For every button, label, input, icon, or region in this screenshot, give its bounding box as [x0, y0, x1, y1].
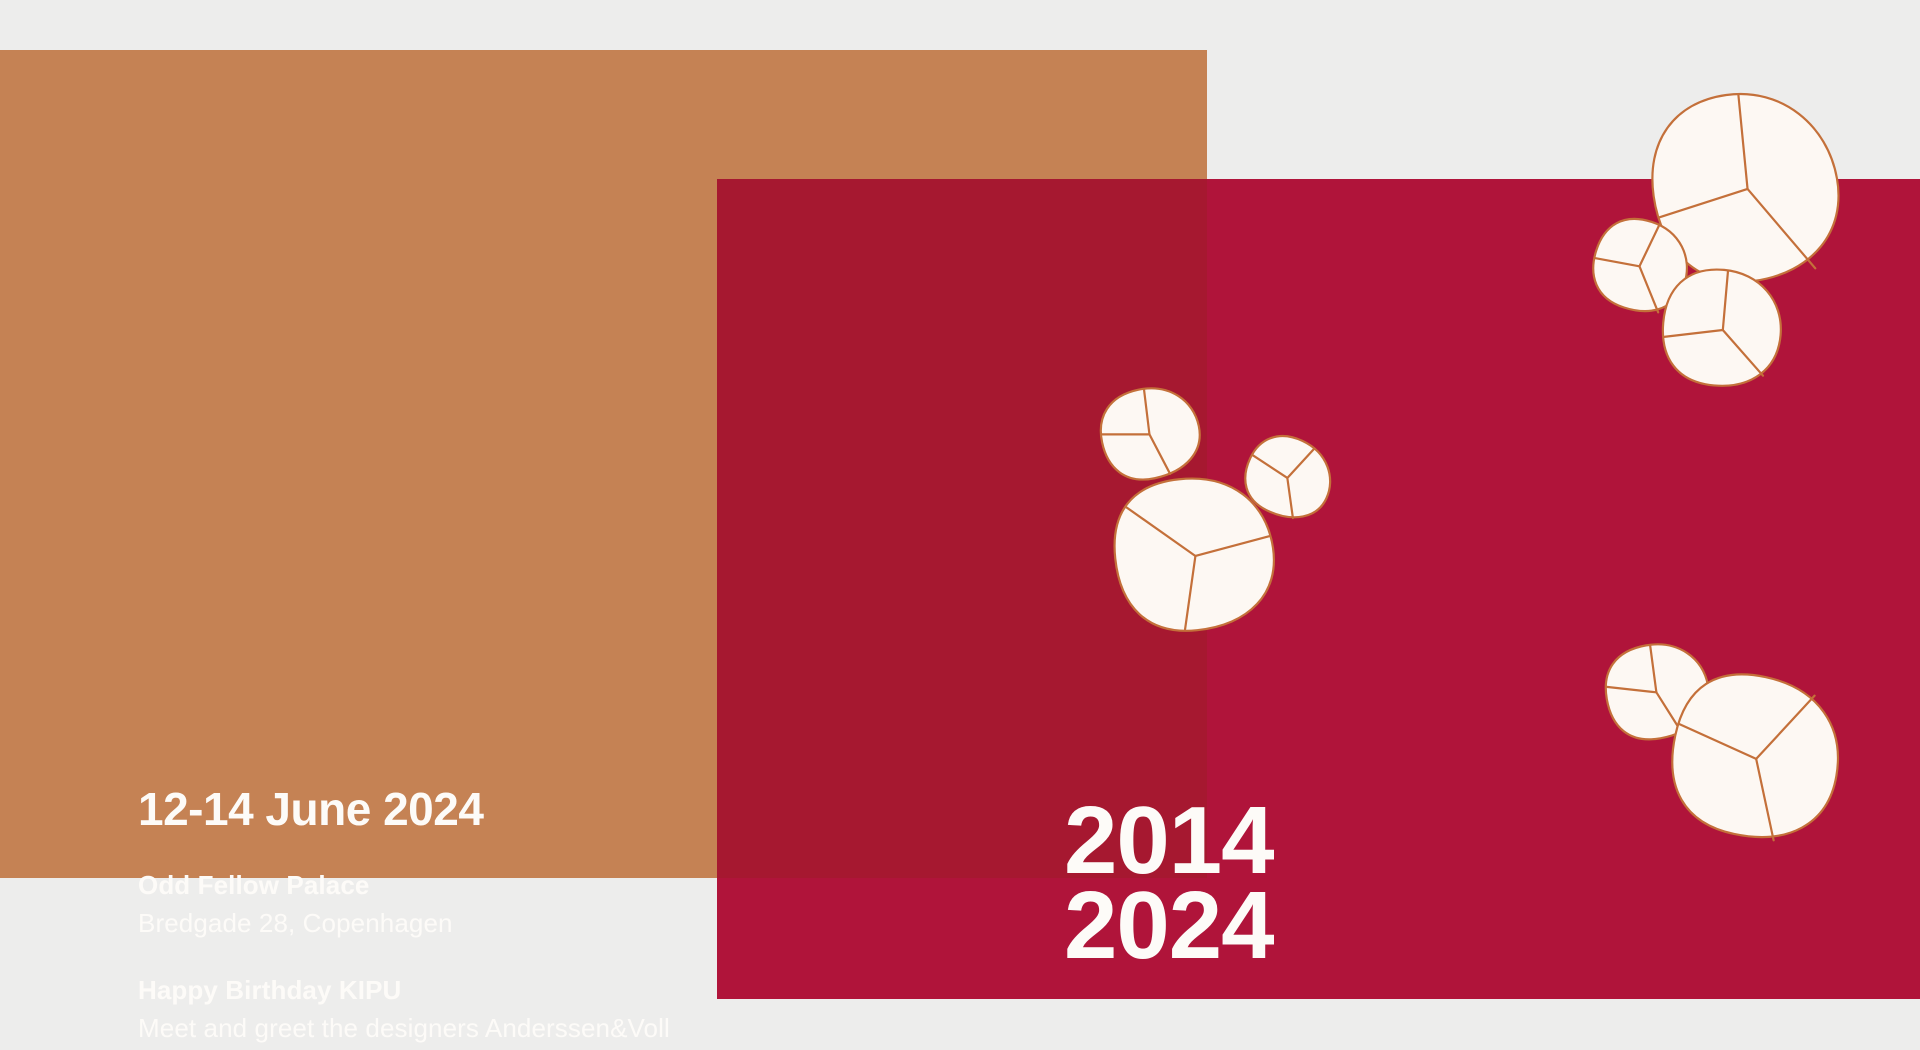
poster-text-column: 3 days of Design 12-14 June 2024 Odd Fel… [138, 96, 1038, 1050]
page-title: 3 days of Design [134, 96, 1038, 730]
sub-event-description-line-1: Meet and greet the designers Anderssen&V… [138, 1013, 1038, 1044]
anniversary-from-year: 2014 [1064, 798, 1274, 883]
event-dates: 12-14 June 2024 [138, 782, 1038, 836]
anniversary-to-year: 2024 [1064, 883, 1274, 968]
venue-block: Odd Fellow Palace Bredgade 28, Copenhage… [138, 870, 1038, 939]
sub-event-title: Happy Birthday KIPU [138, 975, 1038, 1006]
sub-event-block: Happy Birthday KIPU Meet and greet the d… [138, 975, 1038, 1050]
headline-line-2: of Design [134, 476, 1038, 603]
anniversary-years: 2014 2024 [1064, 798, 1274, 969]
headline-line-1: 3 days [134, 223, 1038, 350]
venue-name: Odd Fellow Palace [138, 870, 1038, 901]
venue-address: Bredgade 28, Copenhagen [138, 908, 1038, 939]
poster-canvas: 3 days of Design 12-14 June 2024 Odd Fel… [0, 0, 1920, 1050]
